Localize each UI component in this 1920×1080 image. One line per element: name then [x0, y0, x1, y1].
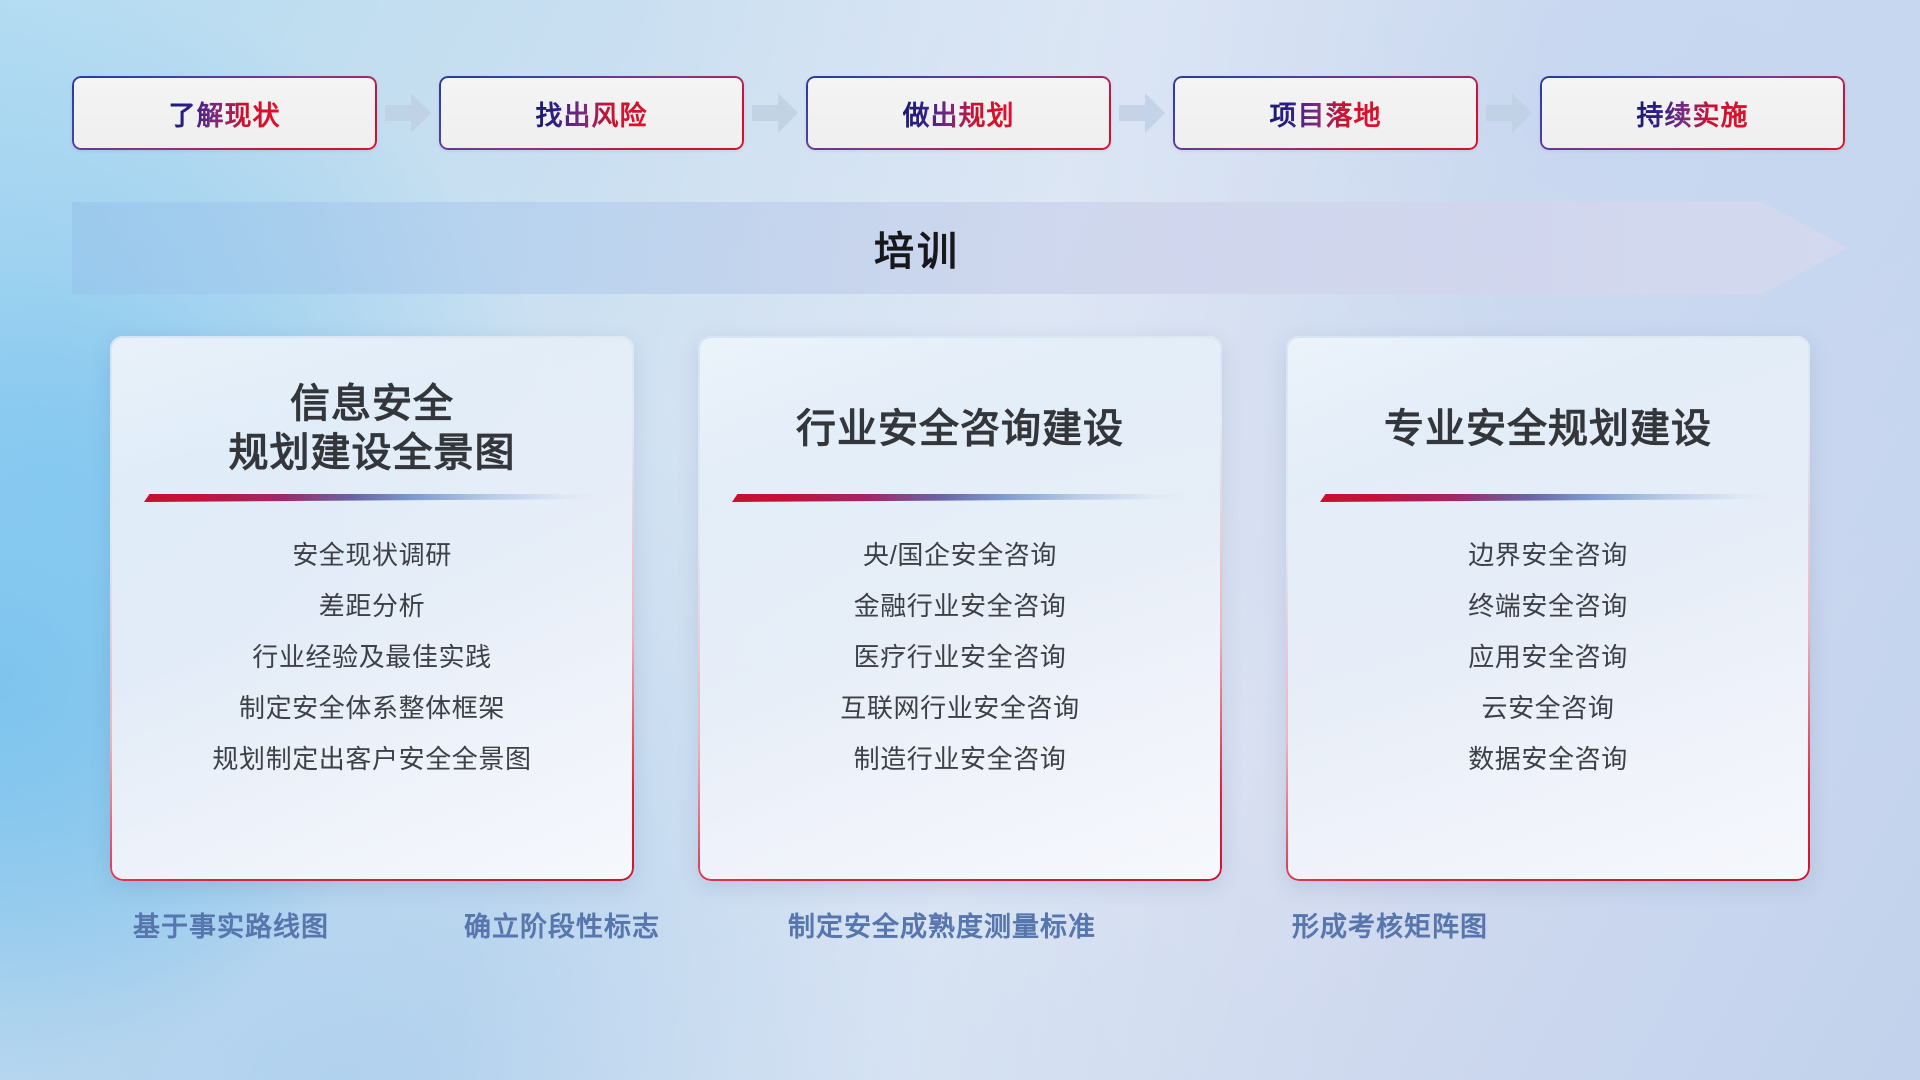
- process-step-5[interactable]: 持续实施: [1540, 76, 1845, 150]
- slide-canvas: 了解现状找出风险做出规划项目落地持续实施 培训 信息安全 规划建设全景图安全现状…: [0, 0, 1920, 1080]
- card-list-item[interactable]: 云安全咨询: [1481, 691, 1614, 726]
- card-list-item[interactable]: 终端安全咨询: [1468, 589, 1628, 624]
- card-divider-wrap: [698, 494, 1222, 502]
- card-title: 专业安全规划建设: [1384, 405, 1712, 454]
- card-list-item[interactable]: 金融行业安全咨询: [854, 589, 1067, 624]
- process-step-row: 了解现状找出风险做出规划项目落地持续实施: [72, 76, 1848, 150]
- card-accent-divider: [732, 494, 1188, 502]
- footer-label-4: 形成考核矩阵图: [1292, 905, 1488, 944]
- card-list-item[interactable]: 差距分析: [319, 589, 425, 624]
- card-item-list: 央/国企安全咨询金融行业安全咨询医疗行业安全咨询互联网行业安全咨询制造行业安全咨…: [698, 502, 1222, 881]
- card-list-item[interactable]: 边界安全咨询: [1468, 538, 1628, 573]
- process-step-label: 持续实施: [1637, 94, 1749, 133]
- card-item-list: 安全现状调研差距分析行业经验及最佳实践制定安全体系整体框架规划制定出客户安全全景…: [110, 502, 634, 881]
- process-step-1[interactable]: 了解现状: [72, 76, 377, 150]
- process-step-label: 做出规划: [903, 94, 1015, 133]
- training-banner-title: 培训: [72, 202, 1848, 294]
- process-step-label: 了解现状: [169, 94, 281, 133]
- card-list-item[interactable]: 应用安全咨询: [1468, 640, 1628, 675]
- process-step-4[interactable]: 项目落地: [1173, 76, 1478, 150]
- card-list-item[interactable]: 行业经验及最佳实践: [252, 640, 491, 675]
- card-list-item[interactable]: 规划制定出客户安全全景图: [212, 742, 531, 777]
- process-step-3[interactable]: 做出规划: [806, 76, 1111, 150]
- step-connector-1-right-arrow-icon: [377, 76, 439, 150]
- footer-label-row: 基于事实路线图确立阶段性标志制定安全成熟度测量标准形成考核矩阵图: [0, 905, 1920, 965]
- process-step-label: 项目落地: [1270, 94, 1382, 133]
- step-connector-4-right-arrow-icon: [1478, 76, 1540, 150]
- card-list-item[interactable]: 安全现状调研: [292, 538, 452, 573]
- card-accent-divider: [1320, 494, 1776, 502]
- card-header: 行业安全咨询建设: [698, 336, 1222, 484]
- step-connector-2-right-arrow-icon: [744, 76, 806, 150]
- card-header: 信息安全 规划建设全景图: [110, 336, 634, 484]
- card-item-list: 边界安全咨询终端安全咨询应用安全咨询云安全咨询数据安全咨询: [1286, 502, 1810, 881]
- footer-label-1: 基于事实路线图: [133, 905, 329, 944]
- card-list-item[interactable]: 制定安全体系整体框架: [239, 691, 505, 726]
- card-accent-divider: [144, 494, 600, 502]
- content-card-2[interactable]: 行业安全咨询建设央/国企安全咨询金融行业安全咨询医疗行业安全咨询互联网行业安全咨…: [698, 336, 1222, 881]
- training-banner: 培训: [72, 202, 1848, 294]
- process-step-2[interactable]: 找出风险: [439, 76, 744, 150]
- card-list-item[interactable]: 数据安全咨询: [1468, 742, 1628, 777]
- footer-label-2: 确立阶段性标志: [464, 905, 660, 944]
- content-card-1[interactable]: 信息安全 规划建设全景图安全现状调研差距分析行业经验及最佳实践制定安全体系整体框…: [110, 336, 634, 881]
- card-divider-wrap: [1286, 494, 1810, 502]
- card-title: 行业安全咨询建设: [796, 405, 1124, 454]
- card-row: 信息安全 规划建设全景图安全现状调研差距分析行业经验及最佳实践制定安全体系整体框…: [110, 336, 1810, 881]
- card-list-item[interactable]: 医疗行业安全咨询: [854, 640, 1067, 675]
- card-divider-wrap: [110, 494, 634, 502]
- card-list-item[interactable]: 互联网行业安全咨询: [840, 691, 1079, 726]
- card-list-item[interactable]: 制造行业安全咨询: [854, 742, 1067, 777]
- card-header: 专业安全规划建设: [1286, 336, 1810, 484]
- step-connector-3-right-arrow-icon: [1111, 76, 1173, 150]
- content-card-3[interactable]: 专业安全规划建设边界安全咨询终端安全咨询应用安全咨询云安全咨询数据安全咨询: [1286, 336, 1810, 881]
- card-title: 信息安全 规划建设全景图: [229, 380, 516, 478]
- card-list-item[interactable]: 央/国企安全咨询: [863, 538, 1057, 573]
- process-step-label: 找出风险: [536, 94, 648, 133]
- footer-label-3: 制定安全成熟度测量标准: [788, 905, 1096, 944]
